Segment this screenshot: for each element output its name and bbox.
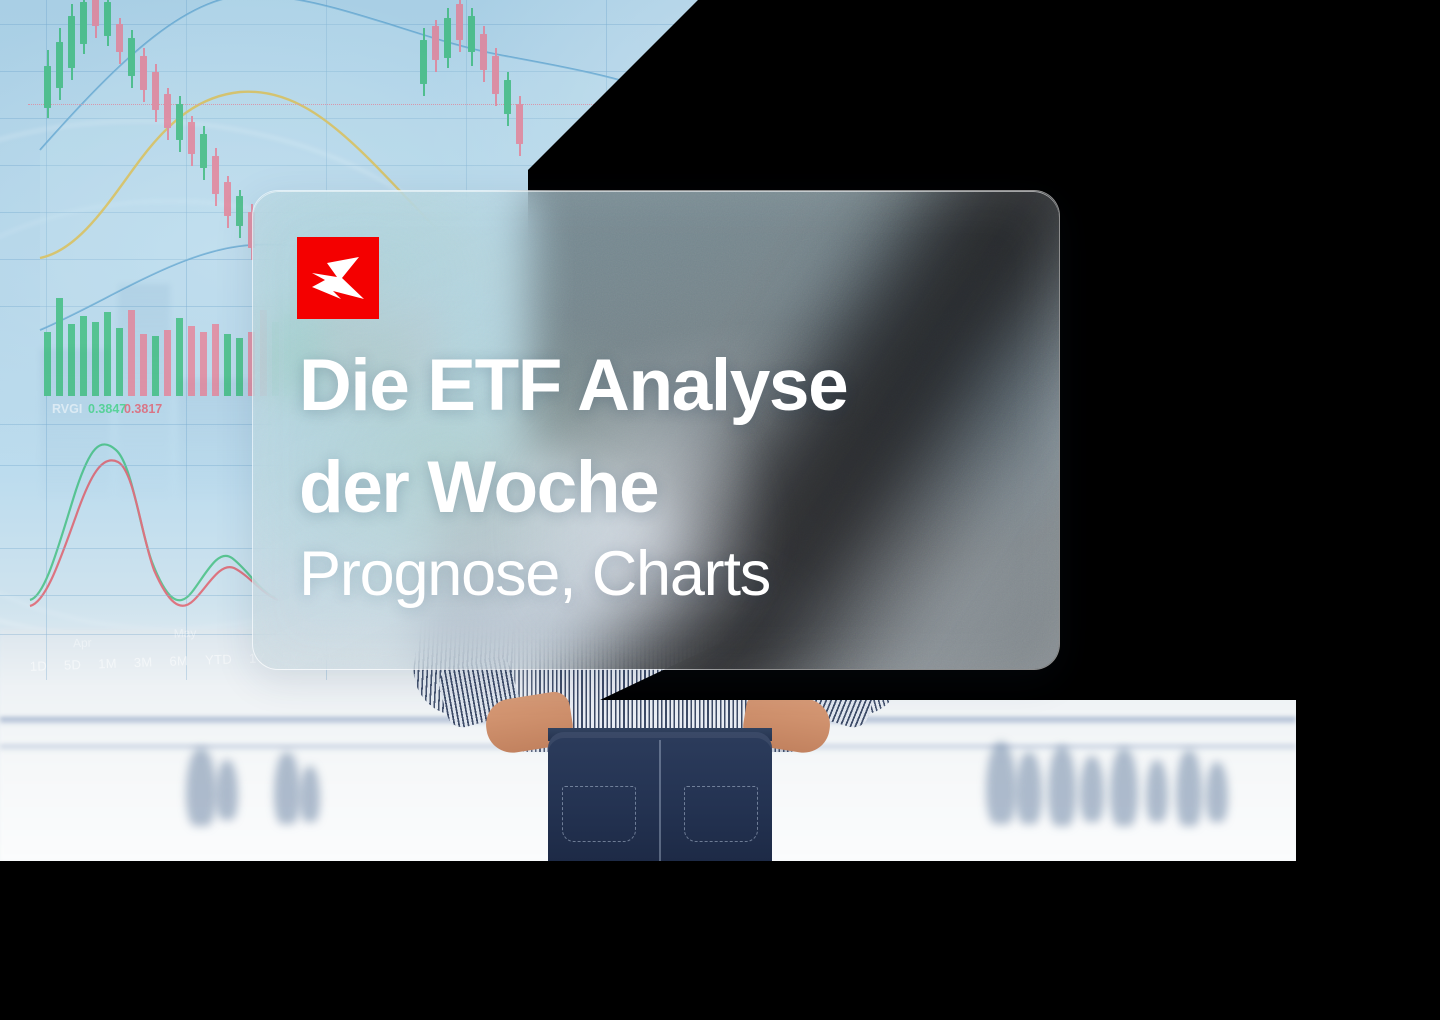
indicator-value-green: 0.3847 [88, 402, 126, 416]
volume-panel [44, 278, 274, 396]
volume-tag: 52.378M [1227, 348, 1290, 367]
trading-screen-photo: RVGI 0.3847 0.3817 0.6000 0.4000 -0.2000… [0, 0, 1296, 861]
scale-button-log[interactable]: log [1216, 614, 1234, 630]
price-axis-tick: 132.00 [1250, 257, 1288, 271]
headline-line-1: Die ETF Analyse [299, 349, 1039, 423]
x-axis-label-apr: Apr [73, 636, 92, 651]
jeans-pocket-right [684, 786, 758, 842]
poster-canvas: RVGI 0.3847 0.3817 0.6000 0.4000 -0.2000… [0, 0, 1440, 1020]
subheadline: Prognose, Charts [299, 542, 1039, 608]
range-button-3m[interactable]: 3M [134, 655, 153, 669]
range-button-1d[interactable]: 1D [30, 659, 48, 673]
gear-icon[interactable]: ✿ [1287, 591, 1296, 606]
xtb-logo-mark [297, 237, 379, 319]
headline-line-2: der Woche [299, 451, 1039, 525]
indicator-value-red: 0.3817 [124, 402, 162, 416]
ma-price-tag: 153.30 [1238, 128, 1290, 147]
jeans-pocket-left [562, 786, 636, 842]
x-axis-label-apr-2: Apr [1183, 601, 1202, 616]
bollinger-upper-tag [1252, 44, 1290, 63]
toolbar-divider [1132, 617, 1134, 633]
low-label: Low [1200, 303, 1237, 322]
scale-button-pct[interactable]: % [1188, 615, 1200, 630]
scale-button-adj[interactable]: adj [1155, 617, 1173, 633]
range-button-5d[interactable]: 5D [64, 658, 82, 672]
low-price-tag: Low 124.17 [1200, 303, 1290, 322]
last-price-level [620, 128, 1242, 129]
rvgi-signal-tag: 0.2708 [1238, 483, 1290, 502]
indicator-name: RVGI [52, 402, 82, 416]
price-axis-tick: 164.00 [1250, 65, 1288, 79]
rvgi-value-tag: 0.2 [1259, 504, 1290, 523]
x-axis-label-may: May [173, 626, 196, 641]
last-price-tag: 158.28 [1238, 97, 1290, 116]
range-button-ytd[interactable]: YTD [205, 652, 232, 666]
range-button-1m[interactable]: 1M [98, 656, 117, 670]
price-axis-tick: 148.00 [1250, 162, 1288, 176]
glass-content-card: Die ETF Analyse der Woche Prognose, Char… [252, 190, 1060, 670]
jeans [548, 732, 772, 861]
xtb-logo[interactable] [297, 237, 379, 319]
card-text-block: Die ETF Analyse der Woche Prognose, Char… [299, 349, 1039, 607]
bollinger-lower-tag: 137.97 [1238, 222, 1290, 241]
scale-button-auto[interactable]: auto [1249, 613, 1277, 629]
low-value: 124.17 [1237, 303, 1290, 322]
range-button-6m[interactable]: 6M [169, 654, 188, 668]
crosshair-add-icon[interactable] [1197, 29, 1212, 44]
